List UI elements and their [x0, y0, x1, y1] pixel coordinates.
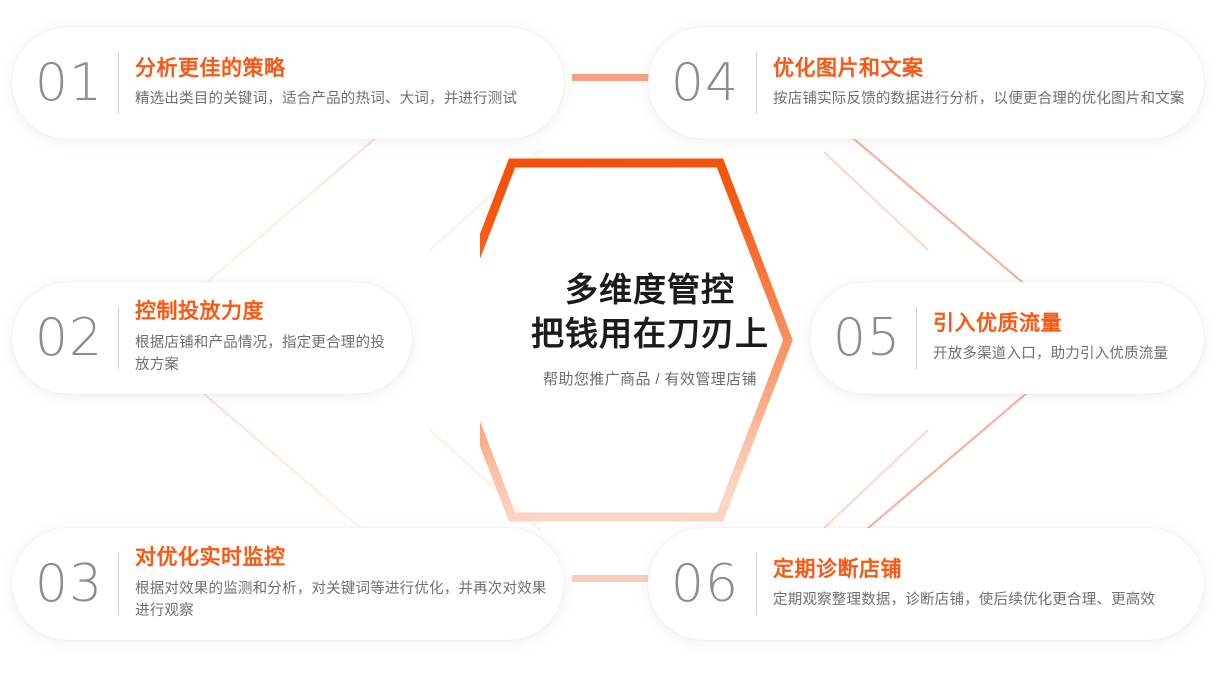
card-body: 优化图片和文案 按店铺实际反馈的数据进行分析，以便更合理的优化图片和文案 — [773, 56, 1188, 111]
step-number-02: 02 — [30, 312, 108, 364]
card-divider — [118, 307, 119, 369]
step-title-05: 引入优质流量 — [933, 311, 1188, 337]
center-headline-block: 多维度管控 把钱用在刀刃上 帮助您推广商品 / 有效管理店铺 — [470, 268, 830, 389]
step-card-05[interactable]: 05 引入优质流量 开放多渠道入口，助力引入优质流量 — [810, 282, 1204, 394]
card-divider — [756, 52, 757, 114]
center-title-line2: 把钱用在刀刃上 — [470, 312, 830, 356]
step-title-02: 控制投放力度 — [135, 299, 396, 325]
step-card-02[interactable]: 02 控制投放力度 根据店铺和产品情况，指定更合理的投放方案 — [12, 282, 412, 394]
card-body: 引入优质流量 开放多渠道入口，助力引入优质流量 — [933, 311, 1188, 366]
card-divider — [118, 52, 119, 114]
infographic-canvas: 多维度管控 把钱用在刀刃上 帮助您推广商品 / 有效管理店铺 01 分析更佳的策… — [0, 0, 1215, 679]
step-title-03: 对优化实时监控 — [135, 545, 548, 571]
center-title-line1: 多维度管控 — [470, 268, 830, 312]
step-desc-02: 根据店铺和产品情况，指定更合理的投放方案 — [135, 332, 396, 377]
card-divider — [916, 307, 917, 369]
step-number-06: 06 — [666, 558, 744, 610]
step-card-04[interactable]: 04 优化图片和文案 按店铺实际反馈的数据进行分析，以便更合理的优化图片和文案 — [648, 27, 1204, 139]
card-body: 分析更佳的策略 精选出类目的关键词，适合产品的热词、大词，并进行测试 — [135, 56, 548, 111]
step-number-03: 03 — [30, 558, 108, 610]
card-divider — [756, 553, 757, 615]
step-desc-03: 根据对效果的监测和分析，对关键词等进行优化，并再次对效果进行观察 — [135, 578, 548, 623]
step-number-04: 04 — [666, 57, 744, 109]
step-number-05: 05 — [828, 312, 906, 364]
step-title-06: 定期诊断店铺 — [773, 557, 1188, 583]
step-number-01: 01 — [30, 57, 108, 109]
step-desc-05: 开放多渠道入口，助力引入优质流量 — [933, 343, 1188, 365]
card-divider — [118, 553, 119, 615]
step-card-01[interactable]: 01 分析更佳的策略 精选出类目的关键词，适合产品的热词、大词，并进行测试 — [12, 27, 564, 139]
card-body: 对优化实时监控 根据对效果的监测和分析，对关键词等进行优化，并再次对效果进行观察 — [135, 545, 548, 622]
step-card-06[interactable]: 06 定期诊断店铺 定期观察整理数据，诊断店铺，使后续优化更合理、更高效 — [648, 528, 1204, 640]
center-subtitle: 帮助您推广商品 / 有效管理店铺 — [470, 368, 830, 389]
step-card-03[interactable]: 03 对优化实时监控 根据对效果的监测和分析，对关键词等进行优化，并再次对效果进… — [12, 528, 564, 640]
step-title-01: 分析更佳的策略 — [135, 56, 548, 82]
step-desc-06: 定期观察整理数据，诊断店铺，使后续优化更合理、更高效 — [773, 589, 1188, 611]
step-desc-04: 按店铺实际反馈的数据进行分析，以便更合理的优化图片和文案 — [773, 88, 1188, 110]
step-desc-01: 精选出类目的关键词，适合产品的热词、大词，并进行测试 — [135, 88, 548, 110]
card-body: 控制投放力度 根据店铺和产品情况，指定更合理的投放方案 — [135, 299, 396, 376]
card-body: 定期诊断店铺 定期观察整理数据，诊断店铺，使后续优化更合理、更高效 — [773, 557, 1188, 612]
step-title-04: 优化图片和文案 — [773, 56, 1188, 82]
